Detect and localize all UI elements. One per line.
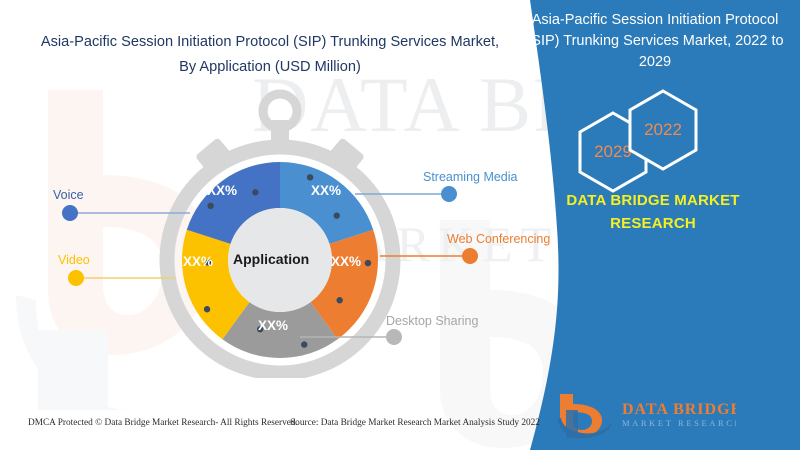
donut-tick-dot: [252, 189, 258, 195]
stopwatch-crown-icon: [263, 94, 297, 142]
donut-chart: Application XX% XX% XX% XX% XX%: [145, 78, 415, 378]
page-title: Asia-Pacific Session Initiation Protocol…: [40, 30, 500, 80]
donut-tick-dot: [365, 260, 371, 266]
donut-tick-dot: [204, 306, 210, 312]
donut-chart-svg: [145, 78, 415, 378]
footer-source: Source: Data Bridge Market Research Mark…: [290, 418, 540, 428]
donut-tick-dot: [301, 341, 307, 347]
footer: DMCA Protected © Data Bridge Market Rese…: [0, 418, 530, 438]
right-panel: Asia-Pacific Session Initiation Protocol…: [500, 0, 800, 450]
callout-dot-voice: [62, 205, 78, 221]
logo-primary-text: DATA BRIDGE: [622, 401, 736, 418]
donut-tick-dot: [307, 174, 313, 180]
donut-tick-dot: [257, 326, 263, 332]
donut-tick-dot: [205, 259, 211, 265]
brand-name: DATA BRIDGE MARKET RESEARCH: [518, 190, 788, 235]
callout-label-video[interactable]: Video: [58, 253, 90, 267]
brand-name-line2: RESEARCH: [518, 213, 788, 236]
callout-dot-web-conferencing: [462, 248, 478, 264]
brand-name-line1: DATA BRIDGE MARKET: [518, 190, 788, 213]
callout-label-desktop-sharing[interactable]: Desktop Sharing: [386, 314, 478, 328]
hexagon-2022-label: 2022: [626, 88, 700, 172]
year-hexagons: 2029 2022: [570, 88, 760, 198]
donut-center-label: Application: [233, 251, 309, 267]
logo-secondary-text: MARKET RESEARCH: [622, 418, 736, 428]
callout-label-voice[interactable]: Voice: [53, 188, 84, 202]
donut-tick-dot: [336, 297, 342, 303]
data-bridge-logo-icon: DATA BRIDGE MARKET RESEARCH: [556, 392, 736, 440]
hexagon-2022[interactable]: 2022: [626, 88, 700, 172]
callout-dot-streaming-media: [441, 186, 457, 202]
footer-copyright: DMCA Protected © Data Bridge Market Rese…: [28, 418, 298, 428]
infographic-canvas: DATA BRIDGE MARKET RESEARCH Asia-Pacific…: [0, 0, 800, 450]
donut-tick-dot: [334, 212, 340, 218]
panel-title: Asia-Pacific Session Initiation Protocol…: [524, 10, 786, 73]
callout-dot-video: [68, 270, 84, 286]
donut-tick-dot: [207, 203, 213, 209]
data-bridge-logo[interactable]: DATA BRIDGE MARKET RESEARCH: [556, 392, 736, 440]
